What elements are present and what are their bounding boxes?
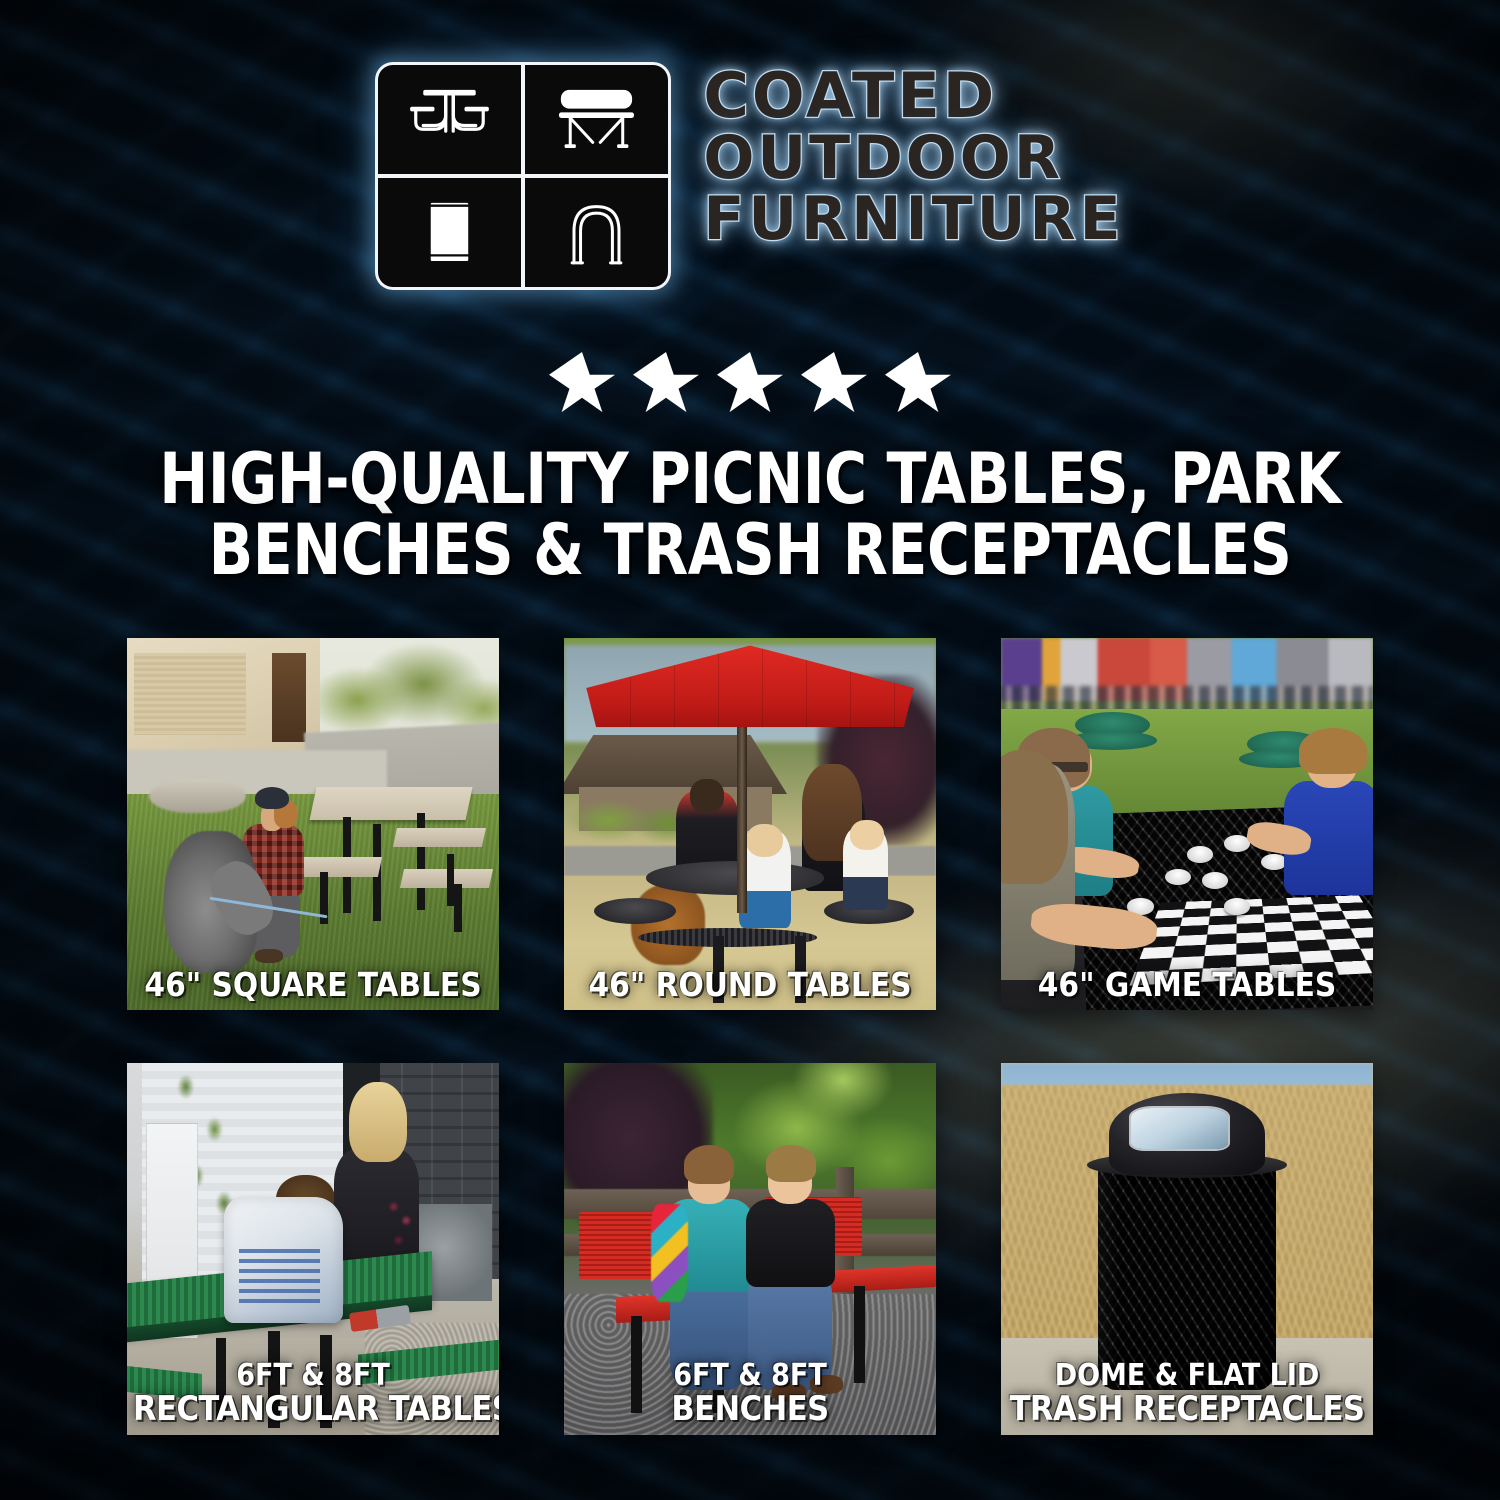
- product-photo-round-tables: [564, 638, 936, 1010]
- caption-line-2: BENCHES: [570, 1392, 930, 1427]
- product-grid: 46" SQUARE TABLES: [127, 638, 1375, 1435]
- trash-receptacle-icon: [378, 178, 521, 287]
- poster-canvas: COATED OUTDOOR FURNITURE HIGH-QUALITY PI…: [0, 0, 1500, 1500]
- product-caption-rectangular-tables: 6FT & 8FT RECTANGULAR TABLES: [127, 1360, 499, 1427]
- product-card-rectangular-tables[interactable]: 6FT & 8FT RECTANGULAR TABLES: [127, 1063, 499, 1435]
- headline-line-1: HIGH-QUALITY PICNIC TABLES, PARK: [127, 444, 1373, 515]
- product-caption-trash-receptacles: DOME & FLAT LID TRASH RECEPTACLES: [1001, 1360, 1373, 1427]
- headline-line-2: BENCHES & TRASH RECEPTACLES: [127, 515, 1373, 586]
- caption-line-1: DOME & FLAT LID: [1007, 1360, 1367, 1391]
- caption-line-2: TRASH RECEPTACLES: [1007, 1392, 1367, 1427]
- product-caption-game-tables: 46" GAME TABLES: [1001, 968, 1373, 1002]
- product-caption-square-tables: 46" SQUARE TABLES: [127, 968, 499, 1002]
- product-caption-benches: 6FT & 8FT BENCHES: [564, 1360, 936, 1427]
- product-card-trash-receptacles[interactable]: DOME & FLAT LID TRASH RECEPTACLES: [1001, 1063, 1373, 1435]
- brand-wordmark: COATED OUTDOOR FURNITURE: [703, 62, 1124, 248]
- star-icon-3: [717, 352, 783, 416]
- product-caption-round-tables: 46" ROUND TABLES: [564, 968, 936, 1002]
- caption-line-2: RECTANGULAR TABLES: [133, 1392, 493, 1427]
- bench-side-icon: [525, 65, 668, 174]
- headline: HIGH-QUALITY PICNIC TABLES, PARK BENCHES…: [0, 444, 1500, 587]
- product-photo-square-tables: [127, 638, 499, 1010]
- brand-line-1: COATED: [703, 66, 1124, 127]
- product-card-round-tables[interactable]: 46" ROUND TABLES: [564, 638, 936, 1010]
- star-icon-4: [801, 352, 867, 416]
- brand-logo-mark: [375, 62, 671, 290]
- caption-line-1: 6FT & 8FT: [133, 1360, 493, 1391]
- product-card-benches[interactable]: 6FT & 8FT BENCHES: [564, 1063, 936, 1435]
- brand-line-3: FURNITURE: [703, 190, 1124, 249]
- caption-line-1: 46" ROUND TABLES: [570, 968, 930, 1002]
- product-card-game-tables[interactable]: 46" GAME TABLES: [1001, 638, 1373, 1010]
- caption-line-1: 6FT & 8FT: [570, 1360, 930, 1391]
- product-card-square-tables[interactable]: 46" SQUARE TABLES: [127, 638, 499, 1010]
- bike-rack-arch-icon: [525, 178, 668, 287]
- star-rating: [0, 352, 1500, 416]
- star-icon-5: [885, 352, 951, 416]
- brand-line-2: OUTDOOR: [703, 129, 1124, 188]
- picnic-table-icon: [378, 65, 521, 174]
- star-icon-2: [633, 352, 699, 416]
- caption-line-1: 46" GAME TABLES: [1007, 968, 1367, 1002]
- star-icon-1: [549, 352, 615, 416]
- product-photo-game-tables: [1001, 638, 1373, 1010]
- caption-line-1: 46" SQUARE TABLES: [133, 968, 493, 1002]
- brand-header: COATED OUTDOOR FURNITURE: [0, 62, 1500, 290]
